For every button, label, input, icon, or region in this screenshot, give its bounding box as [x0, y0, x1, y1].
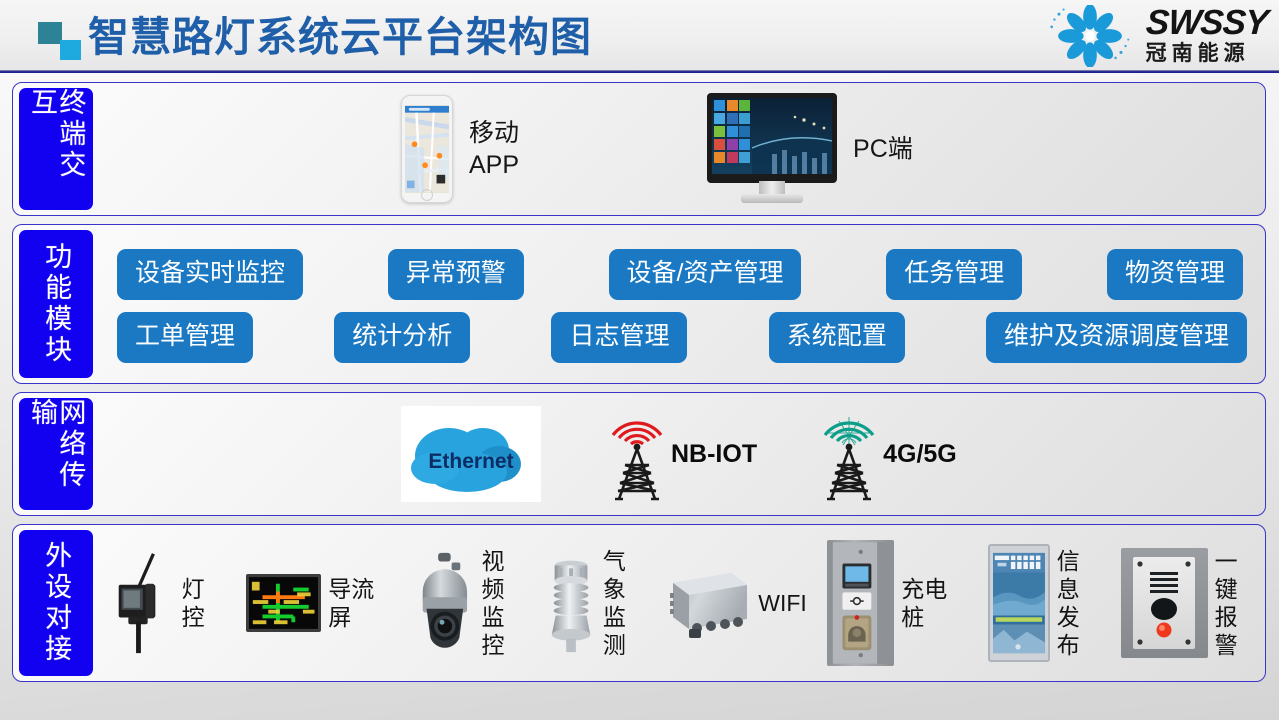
network-label: 4G/5G	[883, 440, 957, 469]
device-label: 充电桩	[901, 575, 968, 631]
tower-red-icon	[603, 405, 671, 503]
brand-sub: 冠南能源	[1146, 41, 1267, 67]
layer-peripheral-devices: 外设对接 灯控	[12, 524, 1266, 682]
layer-tab-label: 网络传输	[28, 398, 85, 510]
weather-station-icon	[546, 550, 596, 656]
device-item-guidance-screen[interactable]: 导流屏	[246, 574, 395, 632]
desktop-monitor-icon	[707, 93, 837, 205]
network-item-4g5g[interactable]: 4G/5G	[815, 405, 957, 503]
device-label: 气象 监测	[603, 547, 647, 659]
function-button-statistics[interactable]: 统计分析	[334, 312, 470, 363]
terminal-label: PC端	[853, 133, 913, 165]
device-item-wifi-enclosure[interactable]: WIFI	[667, 567, 807, 639]
function-button-system-config[interactable]: 系统配置	[769, 312, 905, 363]
network-label: NB-IOT	[671, 440, 757, 469]
page-title: 智慧路灯系统云平台架构图	[88, 8, 592, 66]
layer-network-transmission: 网络传输 Ethernet	[12, 392, 1266, 516]
device-item-emergency-alarm[interactable]: 一键 报警	[1121, 547, 1259, 659]
device-label: 视频 监控	[481, 547, 525, 659]
device-label: 一键 报警	[1215, 547, 1259, 659]
header-divider	[0, 70, 1279, 73]
function-button-maintenance-scheduling[interactable]: 维护及资源调度管理	[986, 312, 1247, 363]
brand-name: SWSSY	[1144, 6, 1268, 40]
layer-terminal-interaction: 终端交互	[12, 82, 1266, 216]
device-item-weather-station[interactable]: 气象 监测	[546, 547, 647, 659]
smartphone-map-icon	[401, 95, 453, 203]
layer-tab-label: 终端交互	[28, 88, 85, 210]
terminal-item-pc[interactable]: PC端	[707, 93, 913, 205]
function-button-anomaly-alert[interactable]: 异常预警	[388, 249, 524, 300]
function-button-material-management[interactable]: 物资管理	[1107, 249, 1243, 300]
function-button-task-management[interactable]: 任务管理	[886, 249, 1022, 300]
info-display-icon	[988, 544, 1050, 662]
device-item-video-camera[interactable]: 视频 监控	[415, 547, 526, 659]
layer-tab-function: 功能模块	[19, 230, 93, 378]
layer-tab-label: 外设对接	[42, 541, 70, 665]
layer-tab-label: 功能模块	[42, 242, 70, 366]
layer-tab-network: 网络传输	[19, 398, 93, 510]
alarm-button-icon	[1121, 548, 1208, 658]
terminal-item-mobile-app[interactable]: 移动 APP	[401, 95, 519, 203]
tower-teal-icon	[815, 405, 883, 503]
lamp-controller-icon	[111, 550, 175, 656]
network-item-ethernet[interactable]: Ethernet	[401, 406, 541, 502]
layer-tab-terminal: 终端交互	[19, 88, 93, 210]
water-drop-flower-logo	[1044, 5, 1136, 67]
layer-function-modules: 功能模块 设备实时监控 异常预警 设备/资产管理 任务管理 物资管理 工单管理 …	[12, 224, 1266, 384]
device-item-info-display[interactable]: 信息 发布	[988, 544, 1101, 662]
ptz-camera-icon	[415, 551, 475, 655]
device-label: 信息 发布	[1057, 547, 1101, 659]
network-item-nbiot[interactable]: NB-IOT	[603, 405, 757, 503]
wifi-enclosure-icon	[667, 567, 751, 639]
device-item-lamp-controller[interactable]: 灯控	[111, 550, 226, 656]
brand-logo: SWSSY 冠南能源	[1044, 4, 1267, 68]
device-label: 灯控	[182, 575, 226, 631]
charging-pile-icon	[827, 540, 895, 666]
device-item-charging-pile[interactable]: 充电桩	[827, 540, 968, 666]
cloud-icon: Ethernet	[401, 406, 541, 502]
function-button-work-order[interactable]: 工单管理	[117, 312, 253, 363]
guidance-screen-icon	[246, 574, 321, 632]
two-squares-icon	[38, 22, 84, 62]
function-button-log-management[interactable]: 日志管理	[551, 312, 687, 363]
layer-tab-device: 外设对接	[19, 530, 93, 676]
page-header: 智慧路灯系统云平台架构图	[0, 0, 1279, 72]
function-button-device-monitoring[interactable]: 设备实时监控	[117, 249, 303, 300]
device-label: 导流屏	[328, 575, 394, 631]
function-button-asset-management[interactable]: 设备/资产管理	[609, 249, 802, 300]
terminal-label: 移动 APP	[469, 117, 519, 181]
device-label: WIFI	[758, 589, 807, 617]
svg-text:Ethernet: Ethernet	[428, 450, 513, 473]
